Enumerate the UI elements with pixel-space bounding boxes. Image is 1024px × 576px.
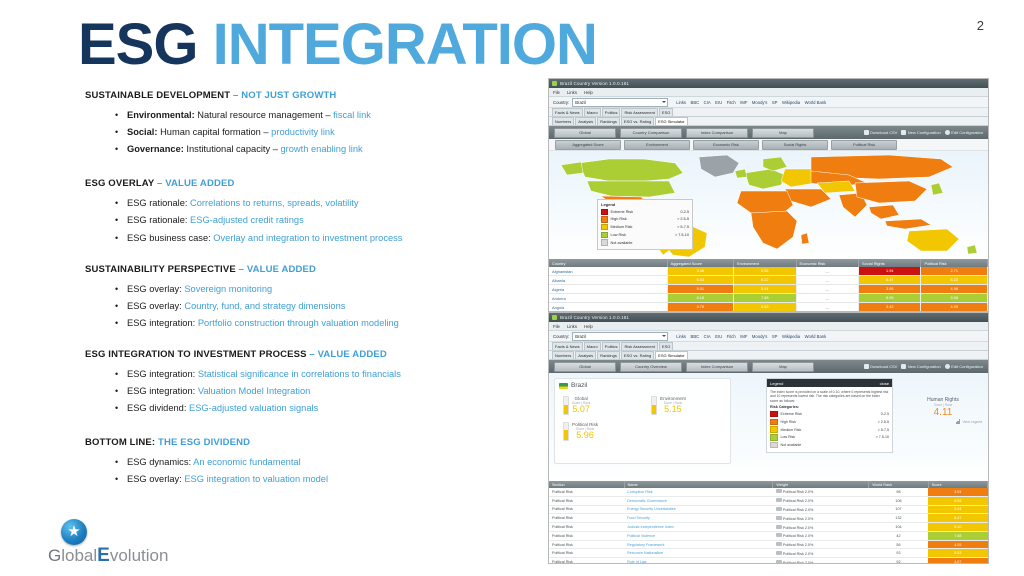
content-section: BOTTOM LINE: THE ESG DIVIDEND•ESG dynami… bbox=[85, 437, 545, 486]
table-cell: — bbox=[796, 294, 858, 303]
legend-row-label: Not available bbox=[611, 241, 690, 245]
menu-item[interactable]: File bbox=[553, 324, 560, 329]
tab-esg-vs-rating[interactable]: ESG vs. Rating bbox=[621, 117, 654, 125]
tab-rankings[interactable]: Rankings bbox=[597, 117, 620, 125]
legend-color-swatch bbox=[770, 411, 778, 418]
bullet-accent-text: Country, fund, and strategy dimensions bbox=[184, 301, 345, 311]
bottom-tabs-row2[interactable]: NumbersAnalysisRankingsESG vs. RatingESG… bbox=[549, 351, 988, 360]
bottom-window-title: Brazil Country Version 1.0.0.181 bbox=[560, 315, 629, 320]
tab-rankings[interactable]: Rankings bbox=[597, 351, 620, 359]
legend-row: Not available bbox=[601, 239, 689, 246]
link-item[interactable]: CIA bbox=[704, 100, 711, 105]
table-cell: 4.09 bbox=[921, 303, 988, 312]
legend-row-value: 0-2.5 bbox=[680, 210, 689, 214]
tab-esg-simulator[interactable]: ESG Simulator bbox=[655, 351, 687, 359]
country-scores-table[interactable]: CountryAggregated ScoreEnvironmentEconom… bbox=[549, 259, 988, 312]
gauge-icon bbox=[651, 396, 657, 415]
content-section: ESG OVERLAY – VALUE ADDED•ESG rationale:… bbox=[85, 178, 545, 244]
tab-esg[interactable]: ESG bbox=[659, 342, 673, 350]
bullet-item: •ESG rationale: ESG-adjusted credit rati… bbox=[85, 215, 545, 227]
legend-color-swatch bbox=[770, 419, 778, 426]
bullet-accent-text: growth enabling link bbox=[280, 144, 362, 154]
tab-risk-assessment[interactable]: Risk Assessment bbox=[621, 342, 657, 350]
toolbar-button-index-comparison[interactable]: Index Comparison bbox=[686, 128, 748, 138]
link-item[interactable]: IMF bbox=[740, 334, 747, 339]
column-header[interactable]: Section bbox=[549, 481, 624, 488]
gauge-icon bbox=[563, 396, 569, 415]
link-item[interactable]: Wikipedia bbox=[782, 334, 800, 339]
bullet-item: •ESG integration: Statistical significan… bbox=[85, 369, 545, 381]
table-cell-weight: Political Risk 2.0% bbox=[773, 523, 869, 532]
top-window-titlebar: Brazil Country Version 1.0.0.181 bbox=[549, 79, 988, 88]
bullet-dot-icon: • bbox=[115, 301, 118, 312]
menu-item[interactable]: Help bbox=[584, 324, 593, 329]
link-item[interactable]: IMF bbox=[740, 100, 747, 105]
link-item[interactable]: EIU bbox=[715, 334, 722, 339]
risk-legend-panel[interactable]: Legend close The index score is provided… bbox=[766, 378, 893, 453]
bullet-text: ESG integration: bbox=[127, 369, 198, 379]
page-title: ESG INTEGRATION bbox=[78, 16, 597, 74]
legend-color-swatch bbox=[770, 442, 778, 449]
top-tabs-row1[interactable]: Facts & NewsMacroPoliticsRisk Assessment… bbox=[549, 108, 988, 117]
table-cell: 4.78 bbox=[667, 303, 733, 312]
table-cell-name[interactable]: Resource Nationalism bbox=[624, 549, 773, 558]
tab-esg-vs-rating[interactable]: ESG vs. Rating bbox=[621, 351, 654, 359]
table-cell-name[interactable]: Corruption Risk bbox=[624, 488, 773, 496]
table-cell: Albania bbox=[549, 276, 667, 285]
table-cell: 5.44 bbox=[734, 285, 796, 294]
bullet-list: •Environmental: Natural resource managem… bbox=[85, 110, 545, 156]
link-item[interactable]: BBC bbox=[691, 100, 700, 105]
column-header[interactable]: Aggregated Score bbox=[667, 259, 733, 267]
top-country-select[interactable]: Brazil bbox=[572, 98, 668, 107]
table-row[interactable]: Albania6.536.22—6.476.22 bbox=[549, 276, 988, 285]
toolbar-button-global[interactable]: Global bbox=[554, 128, 616, 138]
bullet-dot-icon: • bbox=[115, 474, 118, 485]
section-heading-main: SUSTAINABLE DEVELOPMENT bbox=[85, 90, 233, 101]
bottom-toolbar[interactable]: GlobalCountry OverviewIndex ComparisonMa… bbox=[549, 360, 988, 373]
bullet-dot-icon: • bbox=[115, 233, 118, 244]
legend-description: The index score is provided on a scale o… bbox=[770, 390, 889, 404]
toolbar-action-edit-configuration[interactable]: Edit Configuration bbox=[945, 130, 983, 135]
table-row[interactable]: Political RiskRegulatory Framework Polit… bbox=[549, 540, 988, 549]
link-item[interactable]: SP bbox=[772, 334, 778, 339]
menu-item[interactable]: Links bbox=[567, 90, 577, 95]
chart-icon bbox=[776, 542, 782, 546]
menu-item[interactable]: Help bbox=[584, 90, 593, 95]
table-row[interactable]: Angola4.785.83—3.424.09 bbox=[549, 303, 988, 312]
legend-row-value: 0-2.5 bbox=[881, 412, 889, 416]
table-cell: — bbox=[796, 303, 858, 312]
table-cell: Political Risk bbox=[549, 505, 624, 514]
tab-analysis[interactable]: Analysis bbox=[575, 351, 596, 359]
download-icon bbox=[864, 130, 869, 135]
top-toolbar[interactable]: GlobalCountry ComparisonIndex Comparison… bbox=[549, 126, 988, 139]
column-header[interactable]: Weight bbox=[773, 481, 869, 488]
table-cell-name[interactable]: Democratic Governance bbox=[624, 496, 773, 505]
chart-icon bbox=[776, 525, 782, 529]
section-heading-accent: – NOT JUST GROWTH bbox=[233, 90, 336, 101]
new-file-icon bbox=[901, 364, 906, 369]
chart-icon bbox=[776, 560, 782, 564]
bullet-accent-text: Correlations to returns, spreads, volati… bbox=[190, 198, 358, 208]
link-item[interactable]: Moody's bbox=[752, 100, 767, 105]
column-header[interactable]: Name bbox=[624, 481, 773, 488]
card-header: Brazil bbox=[555, 379, 730, 392]
legend-categories-label: Risk Categories: bbox=[770, 405, 889, 409]
page-number: 2 bbox=[977, 18, 984, 33]
toolbar-button-map[interactable]: Map bbox=[752, 128, 814, 138]
bullet-text: ESG overlay: bbox=[127, 301, 184, 311]
table-cell: 4.07 bbox=[928, 558, 987, 564]
table-row[interactable]: Political RiskJudicial Independence Inde… bbox=[549, 523, 988, 532]
table-row[interactable]: Political RiskCorruption Risk Political … bbox=[549, 488, 988, 496]
bullet-item: •ESG dividend: ESG-adjusted valuation si… bbox=[85, 403, 545, 415]
link-item[interactable]: Fitch bbox=[727, 334, 736, 339]
map-legend: Legend Extreme Risk0-2.5High Risk> 2.5-5… bbox=[597, 199, 693, 250]
section-heading-accent: – VALUE ADDED bbox=[157, 178, 234, 189]
bullet-text: ESG dynamics: bbox=[127, 457, 193, 467]
bullet-dot-icon: • bbox=[115, 110, 118, 121]
link-item[interactable]: Wikipedia bbox=[782, 100, 800, 105]
app-icon bbox=[552, 315, 557, 320]
bullet-item: •ESG integration: Portfolio construction… bbox=[85, 318, 545, 330]
table-cell: 93 bbox=[869, 549, 928, 558]
bullet-accent-text: An economic fundamental bbox=[193, 457, 301, 467]
legend-row-label: High Risk bbox=[611, 217, 678, 221]
bottom-linkbar[interactable]: LinksBBCCIAEIUFitchIMFMoody'sSPWikipedia… bbox=[676, 334, 826, 339]
content-section: ESG INTEGRATION TO INVESTMENT PROCESS – … bbox=[85, 349, 545, 415]
chart-icon bbox=[776, 551, 782, 555]
tab-macro[interactable]: Macro bbox=[584, 108, 601, 116]
logo-volution: volution bbox=[110, 546, 169, 565]
table-cell: 3.42 bbox=[859, 303, 921, 312]
link-item[interactable]: Links bbox=[676, 100, 686, 105]
bullet-accent-text: ESG-adjusted credit ratings bbox=[190, 215, 304, 225]
section-heading-main: ESG OVERLAY bbox=[85, 178, 157, 189]
tab-politics[interactable]: Politics bbox=[602, 342, 621, 350]
toolbar-action-new-configuration[interactable]: New Configuration bbox=[901, 364, 940, 369]
category-tab-environment[interactable]: Environment bbox=[624, 140, 690, 150]
bullet-item: •ESG integration: Valuation Model Integr… bbox=[85, 386, 545, 398]
toolbar-action-label: New Configuration bbox=[908, 364, 941, 369]
table-cell: 106 bbox=[869, 496, 928, 505]
bullet-lead: Social: bbox=[127, 127, 157, 137]
table-cell: 7.88 bbox=[928, 531, 987, 540]
table-cell-name[interactable]: Regulatory Framework bbox=[624, 540, 773, 549]
bullet-accent-text: Statistical significance in correlations… bbox=[198, 369, 401, 379]
bullet-item: •ESG rationale: Correlations to returns,… bbox=[85, 198, 545, 210]
table-cell: 104 bbox=[869, 523, 928, 532]
table-cell-weight: Political Risk 2.0% bbox=[773, 514, 869, 523]
tab-esg[interactable]: ESG bbox=[659, 108, 673, 116]
table-cell: 3.91 bbox=[928, 488, 987, 496]
link-item[interactable]: Fitch bbox=[727, 100, 736, 105]
category-tab-aggregated-score[interactable]: Aggregated Score bbox=[555, 140, 621, 150]
table-cell: 5.93 bbox=[928, 496, 987, 505]
bullet-dot-icon: • bbox=[115, 386, 118, 397]
gauge-icon bbox=[563, 422, 569, 441]
bullet-text: ESG integration: bbox=[127, 318, 198, 328]
section-heading: SUSTAINABLE DEVELOPMENT – NOT JUST GROWT… bbox=[85, 90, 545, 101]
column-header[interactable]: Country bbox=[549, 259, 667, 267]
bullet-list: •ESG dynamics: An economic fundamental•E… bbox=[85, 457, 545, 486]
bullet-dot-icon: • bbox=[115, 127, 118, 138]
legend-panel-title: Legend bbox=[770, 381, 783, 386]
column-header[interactable]: Environment bbox=[734, 259, 796, 267]
legend-color-swatch bbox=[770, 426, 778, 433]
bullet-text: Human capital formation – bbox=[157, 127, 271, 137]
toolbar-button-map[interactable]: Map bbox=[752, 362, 814, 372]
bullet-dot-icon: • bbox=[115, 284, 118, 295]
tab-numbers[interactable]: Numbers bbox=[552, 117, 574, 125]
bullet-dot-icon: • bbox=[115, 457, 118, 468]
table-cell-name[interactable]: Rule of Law bbox=[624, 558, 773, 564]
map-legend-title: Legend bbox=[601, 202, 689, 207]
bullet-item: •Environmental: Natural resource managem… bbox=[85, 110, 545, 122]
legend-color-swatch bbox=[601, 209, 608, 216]
table-cell: 5.53 bbox=[928, 549, 987, 558]
table-cell: 92 bbox=[869, 558, 928, 564]
view-legend-label: View Legend bbox=[962, 420, 982, 424]
bullet-item: •ESG overlay: ESG integration to valuati… bbox=[85, 474, 545, 486]
section-heading-accent: THE ESG DIVIDEND bbox=[158, 437, 250, 448]
tab-facts-news[interactable]: Facts & News bbox=[552, 108, 583, 116]
bullet-accent-text: Valuation Model Integration bbox=[198, 386, 311, 396]
tab-facts-news[interactable]: Facts & News bbox=[552, 342, 583, 350]
legend-row-value: > 5-7.5 bbox=[677, 225, 689, 229]
bottom-menubar[interactable]: FileLinksHelp bbox=[549, 322, 988, 331]
bullet-dot-icon: • bbox=[115, 403, 118, 414]
link-item[interactable]: BBC bbox=[691, 334, 700, 339]
table-row[interactable]: Algeria5.015.44—3.954.98 bbox=[549, 285, 988, 294]
app-screenshot-map[interactable]: Brazil Country Version 1.0.0.181 FileLin… bbox=[548, 78, 989, 312]
tab-macro[interactable]: Macro bbox=[584, 342, 601, 350]
link-item[interactable]: Moody's bbox=[752, 334, 767, 339]
table-row[interactable]: Political RiskDemocratic Governance Poli… bbox=[549, 496, 988, 505]
section-heading: ESG OVERLAY – VALUE ADDED bbox=[85, 178, 545, 189]
legend-row: Low Risk> 7.5-10 bbox=[770, 434, 889, 441]
legend-row-value: > 7.5-10 bbox=[876, 435, 889, 439]
metric-text: Political RiskScore | Rank5.96 bbox=[572, 422, 598, 440]
toolbar-action-label: Download CSV bbox=[870, 364, 897, 369]
bottom-country-select[interactable]: Brazil bbox=[572, 332, 668, 341]
table-cell: 5.83 bbox=[734, 303, 796, 312]
metric-value: 5.15 bbox=[660, 405, 686, 414]
bullet-item: •ESG dynamics: An economic fundamental bbox=[85, 457, 545, 469]
legend-row-label: High Risk bbox=[781, 420, 878, 424]
tab-politics[interactable]: Politics bbox=[602, 108, 621, 116]
legend-row: Extreme Risk0-2.5 bbox=[770, 411, 889, 418]
chart-icon bbox=[776, 498, 782, 502]
table-cell: 132 bbox=[869, 514, 928, 523]
table-cell: Algeria bbox=[549, 285, 667, 294]
table-cell-name[interactable]: Food Security bbox=[624, 514, 773, 523]
column-header[interactable]: Social Rights bbox=[859, 259, 921, 267]
menu-item[interactable]: File bbox=[553, 90, 560, 95]
link-item[interactable]: World Bank bbox=[805, 100, 827, 105]
section-heading: BOTTOM LINE: THE ESG DIVIDEND bbox=[85, 437, 545, 448]
table-cell: 4.98 bbox=[921, 285, 988, 294]
link-item[interactable]: EIU bbox=[715, 100, 722, 105]
section-spacer bbox=[85, 250, 545, 264]
gear-icon bbox=[945, 364, 950, 369]
content-column: SUSTAINABLE DEVELOPMENT – NOT JUST GROWT… bbox=[85, 90, 545, 506]
legend-row: High Risk> 2.5-5 bbox=[601, 216, 689, 223]
top-menubar[interactable]: FileLinksHelp bbox=[549, 88, 988, 97]
legend-color-swatch bbox=[601, 239, 608, 246]
menu-item[interactable]: Links bbox=[567, 324, 577, 329]
table-cell: Angola bbox=[549, 303, 667, 312]
legend-color-swatch bbox=[601, 232, 608, 239]
metric-text: GlobalScore | Rank5.07 bbox=[572, 396, 590, 414]
table-row[interactable]: Political RiskRule of Law Political Risk… bbox=[549, 558, 988, 564]
metric-political-risk: Political RiskScore | Rank5.96 bbox=[563, 422, 598, 441]
table-cell-name[interactable]: Political Violence bbox=[624, 531, 773, 540]
gear-icon bbox=[945, 130, 950, 135]
bullet-lead: Environmental: bbox=[127, 110, 195, 120]
bullet-text: ESG overlay: bbox=[127, 284, 184, 294]
section-heading-main: SUSTAINABILITY PERSPECTIVE bbox=[85, 264, 239, 275]
table-row[interactable]: Political RiskResource Nationalism Polit… bbox=[549, 549, 988, 558]
table-cell: 56 bbox=[869, 540, 928, 549]
legend-color-swatch bbox=[770, 434, 778, 441]
bottom-window-titlebar: Brazil Country Version 1.0.0.181 bbox=[549, 313, 988, 322]
link-item[interactable]: World Bank bbox=[805, 334, 827, 339]
category-tab-political-risk[interactable]: Political Risk bbox=[831, 140, 897, 150]
logo-g: G bbox=[48, 546, 61, 565]
legend-row-value: > 2.5-5 bbox=[878, 420, 889, 424]
table-row[interactable]: Political RiskFood Security Political Ri… bbox=[549, 514, 988, 523]
table-cell: 6.53 bbox=[667, 276, 733, 285]
column-header[interactable]: Economic Risk bbox=[796, 259, 858, 267]
table-cell: 42 bbox=[869, 531, 928, 540]
bullet-text: ESG overlay: bbox=[127, 474, 184, 484]
table-cell: 7.88 bbox=[734, 294, 796, 303]
bullet-lead: Governance: bbox=[127, 144, 184, 154]
tab-numbers[interactable]: Numbers bbox=[552, 351, 574, 359]
brazil-flag-icon bbox=[559, 383, 568, 389]
bullet-text: Natural resource management – bbox=[195, 110, 334, 120]
table-cell: Political Risk bbox=[549, 523, 624, 532]
legend-color-swatch bbox=[601, 224, 608, 231]
table-cell: 6.22 bbox=[921, 276, 988, 285]
bullet-list: •ESG integration: Statistical significan… bbox=[85, 369, 545, 415]
link-item[interactable]: SP bbox=[772, 100, 778, 105]
section-spacer bbox=[85, 492, 545, 506]
bottom-tabs-row1[interactable]: Facts & NewsMacroPoliticsRisk Assessment… bbox=[549, 342, 988, 351]
toolbar-button-country-overview[interactable]: Country Overview bbox=[620, 362, 682, 372]
top-linkbar[interactable]: LinksBBCCIAEIUFitchIMFMoody'sSPWikipedia… bbox=[676, 100, 826, 105]
top-category-tabs[interactable]: Aggregated ScoreEnvironmentEconomic Risk… bbox=[549, 139, 988, 151]
table-row[interactable]: Afghanistan3.465.55—1.942.71 bbox=[549, 267, 988, 276]
country-name: Brazil bbox=[571, 382, 587, 389]
category-tab-social-rights[interactable]: Social Rights bbox=[762, 140, 828, 150]
table-row[interactable]: Political RiskEnergy Security Uncertaint… bbox=[549, 505, 988, 514]
toolbar-action-download-csv[interactable]: Download CSV bbox=[864, 130, 898, 135]
legend-row: Medium Risk> 5-7.5 bbox=[601, 224, 689, 231]
toolbar-action-download-csv[interactable]: Download CSV bbox=[864, 364, 898, 369]
table-cell: Political Risk bbox=[549, 514, 624, 523]
logo-lobal: lobal bbox=[61, 546, 97, 565]
table-cell: 6.47 bbox=[859, 276, 921, 285]
table-cell: 8.18 bbox=[667, 294, 733, 303]
bullet-item: •Governance: Institutional capacity – gr… bbox=[85, 144, 545, 156]
toolbar-button-index-comparison[interactable]: Index Comparison bbox=[686, 362, 748, 372]
legend-color-swatch bbox=[601, 216, 608, 223]
bullet-item: •ESG overlay: Sovereign monitoring bbox=[85, 284, 545, 296]
tab-analysis[interactable]: Analysis bbox=[575, 117, 596, 125]
app-icon bbox=[552, 81, 557, 86]
legend-row-value: > 7.5-10 bbox=[675, 233, 689, 237]
metrics-group: GlobalScore | Rank5.07EnvironmentScore |… bbox=[555, 392, 730, 450]
toolbar-button-global[interactable]: Global bbox=[554, 362, 616, 372]
bottom-country-label: Country: bbox=[553, 334, 569, 339]
section-spacer bbox=[85, 161, 545, 178]
table-cell-name[interactable]: Judicial Independence Index bbox=[624, 523, 773, 532]
table-row[interactable]: Andorra8.187.88—8.999.08 bbox=[549, 294, 988, 303]
table-header-row: CountryAggregated ScoreEnvironmentEconom… bbox=[549, 259, 988, 267]
toolbar-action-edit-configuration[interactable]: Edit Configuration bbox=[945, 364, 983, 369]
indicators-table[interactable]: SectionNameWeightWorld RankScore Politic… bbox=[549, 481, 988, 564]
legend-row: Low Risk> 7.5-10 bbox=[601, 232, 689, 239]
link-item[interactable]: CIA bbox=[704, 334, 711, 339]
top-country-row[interactable]: Country: Brazil LinksBBCCIAEIUFitchIMFMo… bbox=[549, 97, 988, 108]
metric-value: 5.96 bbox=[572, 431, 598, 440]
tab-risk-assessment[interactable]: Risk Assessment bbox=[621, 108, 657, 116]
table-cell: 9.08 bbox=[921, 294, 988, 303]
column-header[interactable]: Score bbox=[928, 481, 987, 488]
top-window-title: Brazil Country Version 1.0.0.181 bbox=[560, 81, 629, 86]
bullet-dot-icon: • bbox=[115, 198, 118, 209]
table-cell: — bbox=[796, 267, 858, 276]
column-header[interactable]: Political Risk bbox=[921, 259, 988, 267]
table-cell: 4.05 bbox=[928, 540, 987, 549]
table-cell: Political Risk bbox=[549, 531, 624, 540]
table-cell: 2.71 bbox=[921, 267, 988, 276]
table-cell-name[interactable]: Energy Security Uncertainties bbox=[624, 505, 773, 514]
view-legend-link[interactable]: View Legend bbox=[904, 419, 982, 424]
top-tabs-row2[interactable]: NumbersAnalysisRankingsESG vs. RatingESG… bbox=[549, 117, 988, 126]
table-cell: 5.01 bbox=[667, 285, 733, 294]
legend-close-link[interactable]: close bbox=[880, 381, 889, 386]
bullet-dot-icon: • bbox=[115, 318, 118, 329]
link-item[interactable]: Links bbox=[676, 334, 686, 339]
column-header[interactable]: World Rank bbox=[869, 481, 928, 488]
table-cell-weight: Political Risk 2.0% bbox=[773, 558, 869, 564]
bullet-accent-text: Sovereign monitoring bbox=[184, 284, 272, 294]
legend-row: Extreme Risk0-2.5 bbox=[601, 209, 689, 216]
tab-esg-simulator[interactable]: ESG Simulator bbox=[655, 117, 687, 125]
bottom-country-row[interactable]: Country: Brazil LinksBBCCIAEIUFitchIMFMo… bbox=[549, 331, 988, 342]
content-section: SUSTAINABILITY PERSPECTIVE – VALUE ADDED… bbox=[85, 264, 545, 330]
toolbar-action-label: New Configuration bbox=[908, 130, 941, 135]
bullet-text: Institutional capacity – bbox=[184, 144, 281, 154]
world-map-choropleth[interactable]: Legend Extreme Risk0-2.5High Risk> 2.5-5… bbox=[549, 151, 988, 259]
bullet-item: •ESG business case: Overlay and integrat… bbox=[85, 233, 545, 245]
legend-row-label: Low Risk bbox=[611, 233, 675, 237]
toolbar-button-country-comparison[interactable]: Country Comparison bbox=[620, 128, 682, 138]
toolbar-action-new-configuration[interactable]: New Configuration bbox=[901, 130, 940, 135]
category-tab-economic-risk[interactable]: Economic Risk bbox=[693, 140, 759, 150]
section-heading-main: ESG INTEGRATION TO INVESTMENT PROCESS bbox=[85, 349, 309, 360]
app-screenshot-dashboard[interactable]: Brazil Country Version 1.0.0.181 FileLin… bbox=[548, 312, 989, 564]
legend-row-label: Extreme Risk bbox=[781, 412, 881, 416]
logo-e: E bbox=[97, 545, 110, 566]
bullet-accent-text: Overlay and integration to investment pr… bbox=[213, 233, 402, 243]
bullet-dot-icon: • bbox=[115, 215, 118, 226]
table-row[interactable]: Political RiskPolitical Violence Politic… bbox=[549, 531, 988, 540]
